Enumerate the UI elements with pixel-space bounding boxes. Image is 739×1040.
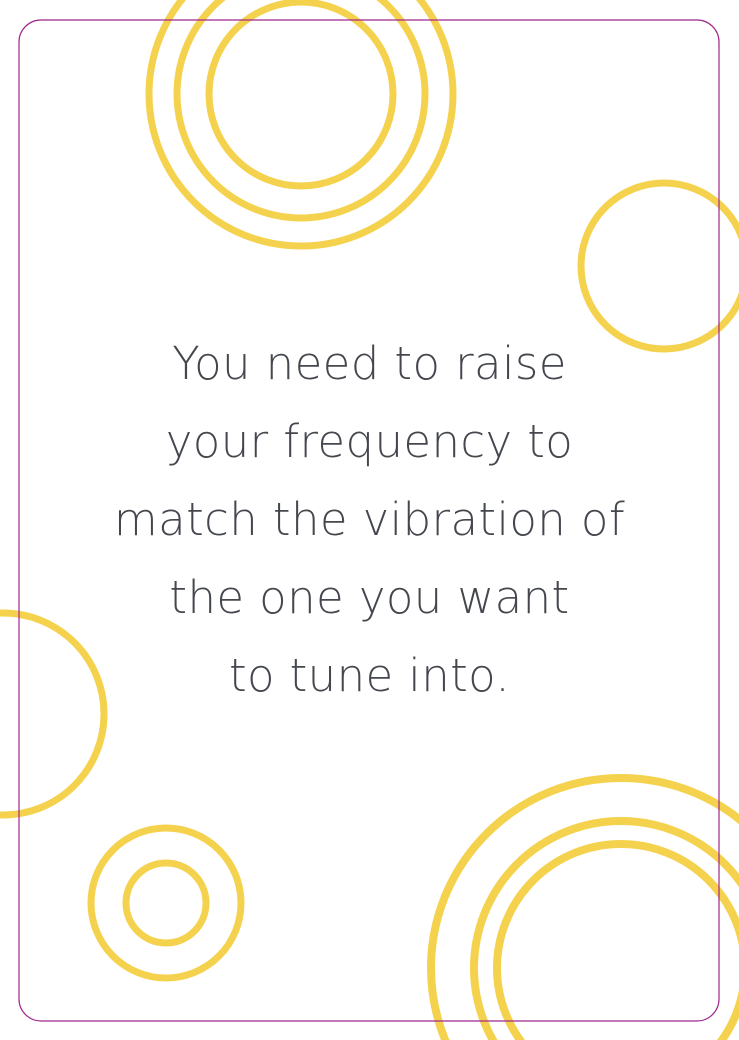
ring-middle-icon bbox=[177, 0, 425, 218]
quote-line: match the vibration of bbox=[0, 481, 739, 559]
ring-outer-icon bbox=[91, 828, 241, 978]
quote-line: to tune into. bbox=[0, 637, 739, 715]
ring-inner-icon bbox=[209, 2, 393, 186]
quote-line: your frequency to bbox=[0, 403, 739, 481]
bottom-left-concentric-rings bbox=[91, 828, 241, 978]
quote-card: You need to raise your frequency to matc… bbox=[0, 0, 739, 1040]
ring-inner-icon bbox=[126, 863, 206, 943]
ring-outer-icon bbox=[149, 0, 453, 246]
quote-line: You need to raise bbox=[0, 325, 739, 403]
quote-text-block: You need to raise your frequency to matc… bbox=[0, 325, 739, 715]
ring-middle-icon bbox=[474, 821, 739, 1040]
ring-inner-icon bbox=[497, 844, 739, 1040]
quote-line: the one you want bbox=[0, 559, 739, 637]
ring-outer-icon bbox=[431, 778, 739, 1040]
top-left-concentric-rings bbox=[149, 0, 453, 246]
bottom-right-concentric-rings bbox=[431, 778, 739, 1040]
